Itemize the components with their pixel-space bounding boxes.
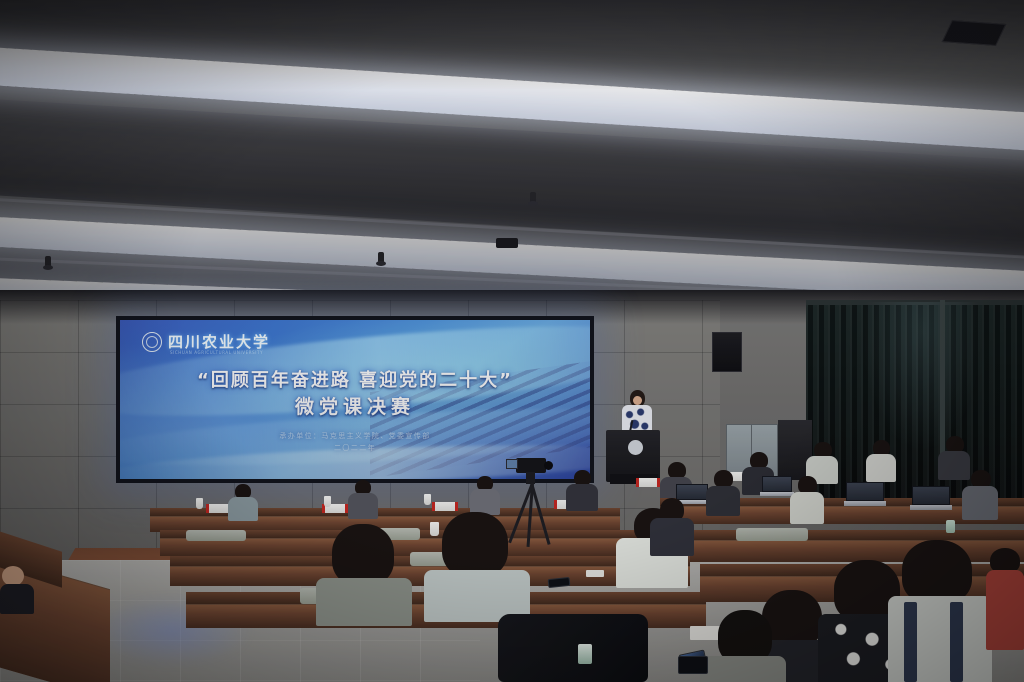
curtain-daylight-glow (862, 302, 982, 452)
paper-cup (424, 494, 431, 505)
camera-lens-icon (544, 461, 553, 470)
bench-seat (186, 530, 246, 541)
camera-body (516, 458, 546, 473)
video-camera-on-tripod (504, 458, 566, 546)
bench-seat (736, 528, 808, 541)
audience-person (566, 470, 598, 508)
judge-placard (636, 478, 660, 487)
slide-content: 四川农业大学 SICHUAN AGRICULTURAL UNIVERSITY “… (120, 320, 590, 479)
paper-cup (324, 496, 331, 507)
backpack-strap (950, 602, 963, 682)
audience-person (650, 498, 694, 552)
smartphone (678, 656, 708, 674)
audience-person (470, 476, 500, 512)
judge-placard (432, 502, 458, 511)
laptop (910, 486, 952, 510)
lecture-hall-photo: 四川农业大学 SICHUAN AGRICULTURAL UNIVERSITY “… (0, 0, 1024, 682)
ceiling (0, 0, 1024, 300)
audience-person (888, 540, 992, 682)
audience-person (986, 548, 1024, 648)
audience-person (962, 470, 998, 518)
audience-person (706, 470, 740, 514)
laptop (844, 482, 886, 506)
water-bottle (946, 520, 955, 533)
backpack-strap (904, 602, 917, 682)
audience-person (866, 440, 896, 480)
audience-person (790, 476, 824, 522)
backpack (498, 614, 648, 682)
paper-cup (196, 498, 203, 509)
ceiling-shading (0, 0, 1024, 300)
audience-person (0, 566, 34, 610)
screen-gloss (120, 320, 590, 479)
university-seal-icon (628, 440, 643, 455)
presenter-face (633, 396, 642, 405)
audience-person (348, 480, 378, 516)
audience-person (228, 484, 258, 518)
audience-person (700, 600, 786, 682)
audience-person (316, 524, 412, 616)
camera-flip-screen (506, 459, 518, 469)
paper-sheet (586, 570, 604, 577)
laptop (760, 476, 794, 496)
wall-speaker-icon (712, 332, 742, 372)
water-bottle (578, 644, 592, 664)
